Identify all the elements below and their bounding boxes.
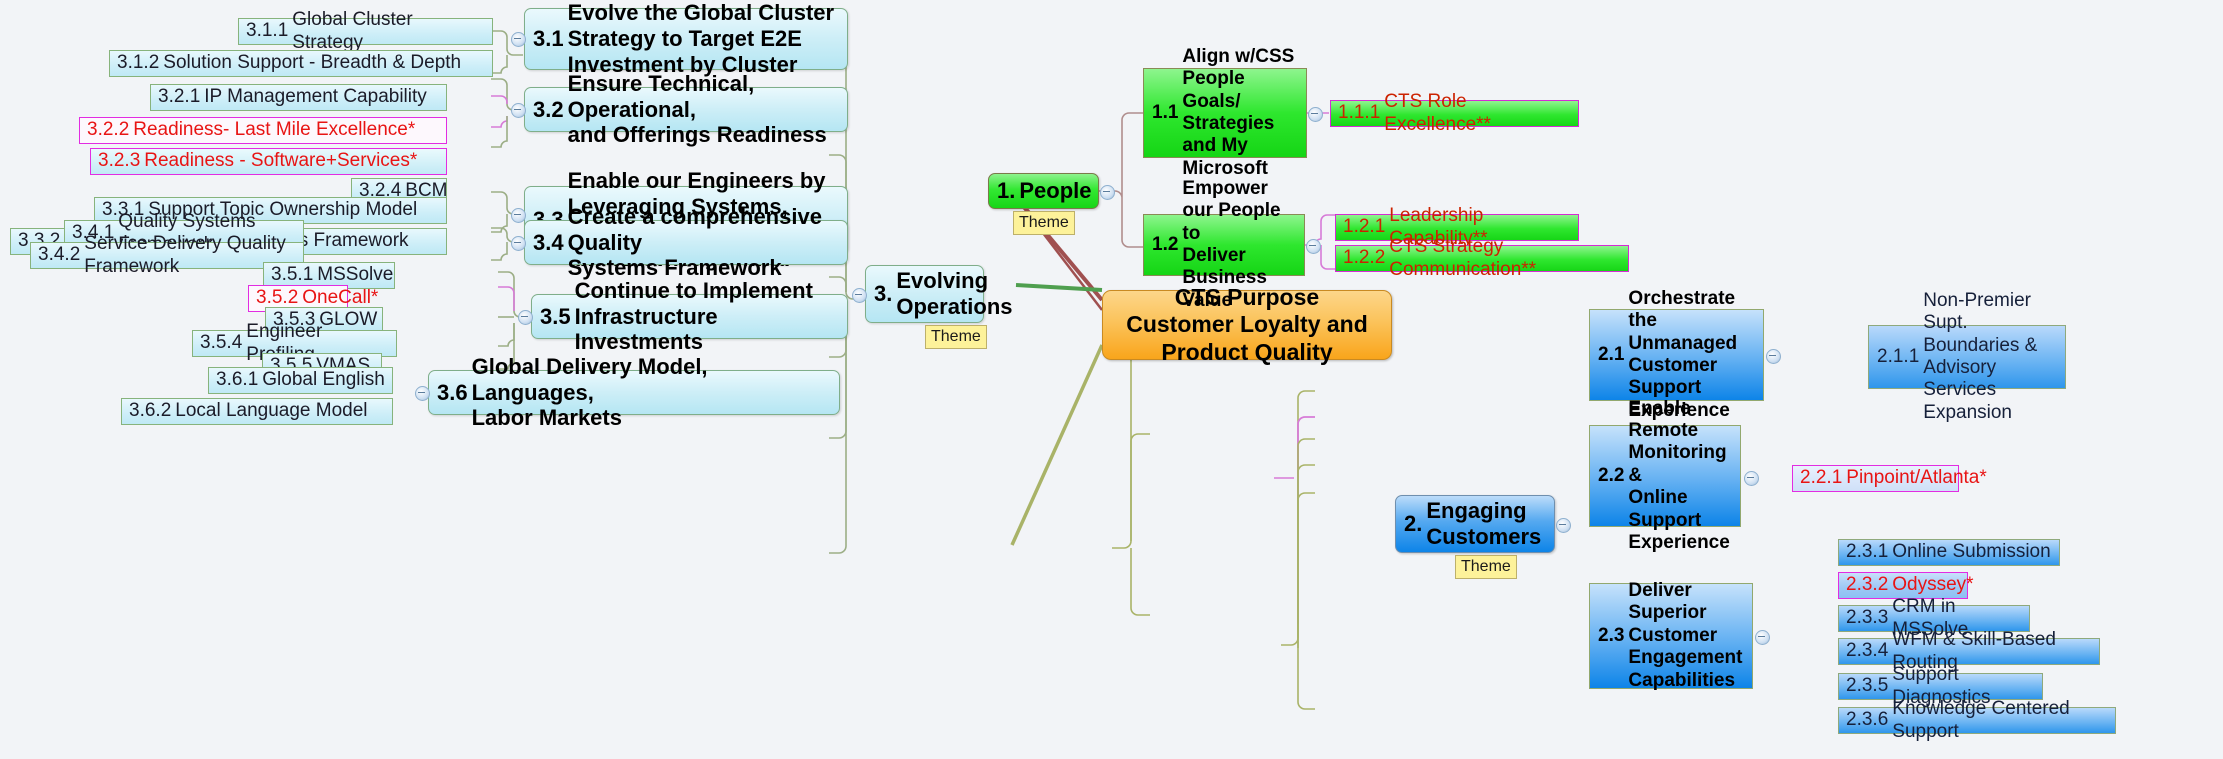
branch-people[interactable]: 1. People <box>988 173 1099 209</box>
node-3-1-label: Evolve the Global Cluster Strategy to Ta… <box>568 0 839 78</box>
node-3-1-number: 3.1 <box>533 26 568 52</box>
node-3-2-1-label: IP Management Capability <box>204 86 439 108</box>
node-3-2-2-number: 3.2.2 <box>87 119 133 141</box>
node-3-6-2-number: 3.6.2 <box>129 400 175 422</box>
collapse-toggle-2-2[interactable] <box>1744 471 1759 486</box>
collapse-toggle-engaging-customers[interactable] <box>1556 518 1571 533</box>
node-2-3-1[interactable]: 2.3.1 Online Submission <box>1838 539 2060 566</box>
node-3-6-1-number: 3.6.1 <box>216 369 262 391</box>
theme-tag-people: Theme <box>1013 211 1075 235</box>
theme-tag-engaging-customers: Theme <box>1455 555 1517 579</box>
node-2-2-1-number: 2.2.1 <box>1800 467 1846 489</box>
node-2-2[interactable]: 2.2 Enable Remote Monitoring & Online Su… <box>1589 425 1741 527</box>
node-3-6-label: Global Delivery Model, Languages, Labor … <box>472 354 831 432</box>
node-3-4-label: Create a comprehensive Quality Systems F… <box>568 204 839 282</box>
node-3-2-2-label: Readiness- Last Mile Excellence* <box>133 119 439 141</box>
branch-evolving-operations-number: 3. <box>874 281 896 307</box>
node-2-1-1[interactable]: 2.1.1 Non-Premier Supt. Boundaries & Adv… <box>1868 325 2066 389</box>
branch-engaging-customers-number: 2. <box>1404 511 1426 537</box>
node-3-6-1-label: Global English <box>262 369 385 391</box>
node-3-5-1-label: MSSolve <box>317 264 393 286</box>
node-1-2-2-label: CTS Strategy Communication** <box>1389 236 1621 281</box>
node-2-3-2-number: 2.3.2 <box>1846 574 1892 596</box>
node-1-2-1-number: 1.2.1 <box>1343 216 1389 238</box>
node-3-2-3[interactable]: 3.2.3 Readiness - Software+Services* <box>90 148 447 175</box>
node-3-2-3-number: 3.2.3 <box>98 150 144 172</box>
collapse-toggle-people[interactable] <box>1100 185 1115 200</box>
collapse-toggle-3-3[interactable] <box>511 208 526 223</box>
node-2-1-number: 2.1 <box>1598 344 1628 366</box>
node-2-3-4[interactable]: 2.3.4 WFM & Skill-Based Routing <box>1838 638 2100 665</box>
node-3-2[interactable]: 3.2 Ensure Technical, Operational, and O… <box>524 87 848 132</box>
branch-evolving-operations[interactable]: 3. Evolving Operations <box>865 265 984 323</box>
node-3-2-label: Ensure Technical, Operational, and Offer… <box>568 71 839 149</box>
node-2-3-2[interactable]: 2.3.2 Odyssey* <box>1838 572 1968 599</box>
branch-engaging-customers[interactable]: 2. Engaging Customers <box>1395 495 1555 553</box>
node-3-2-number: 3.2 <box>533 97 568 123</box>
node-3-6-1[interactable]: 3.6.1 Global English <box>208 367 393 394</box>
collapse-toggle-1-1[interactable] <box>1308 107 1323 122</box>
collapse-toggle-3-1[interactable] <box>511 32 526 47</box>
node-3-1-2-label: Solution Support - Breadth & Depth <box>163 52 485 74</box>
node-1-1[interactable]: 1.1 Align w/CSS People Goals/ Strategies… <box>1143 68 1307 158</box>
mindmap-canvas: CTS Purpose Customer Loyalty and Product… <box>0 0 2223 759</box>
node-3-2-1-number: 3.2.1 <box>158 86 204 108</box>
node-2-3-6[interactable]: 2.3.6 Knowledge Centered Support <box>1838 707 2116 734</box>
node-3-1-2-number: 3.1.2 <box>117 52 163 74</box>
node-2-3-5[interactable]: 2.3.5 Support Diagnostics <box>1838 673 2043 700</box>
node-3-4-number: 3.4 <box>533 230 568 256</box>
node-2-3-number: 2.3 <box>1598 625 1628 647</box>
node-3-1-2[interactable]: 3.1.2 Solution Support - Breadth & Depth <box>109 50 493 77</box>
branch-engaging-customers-label: Engaging Customers <box>1426 498 1546 550</box>
theme-tag-evolving-operations: Theme <box>925 325 987 349</box>
node-2-2-1-label: Pinpoint/Atlanta* <box>1846 467 1987 489</box>
collapse-toggle-2-1[interactable] <box>1766 349 1781 364</box>
node-3-5-number: 3.5 <box>540 304 575 330</box>
node-1-1-label: Align w/CSS People Goals/ Strategies and… <box>1182 46 1298 180</box>
node-3-5[interactable]: 3.5 Continue to Implement Infrastructure… <box>531 294 848 339</box>
node-3-2-3-label: Readiness - Software+Services* <box>144 150 439 172</box>
node-1-1-number: 1.1 <box>1152 102 1182 124</box>
collapse-toggle-3-6[interactable] <box>415 386 430 401</box>
node-2-3[interactable]: 2.3 Deliver Superior Customer Engagement… <box>1589 583 1753 689</box>
node-2-3-2-label: Odyssey* <box>1892 574 1973 596</box>
node-2-1-1-number: 2.1.1 <box>1877 346 1923 368</box>
node-3-6-number: 3.6 <box>437 380 472 406</box>
node-2-2-label: Enable Remote Monitoring & Online Suppor… <box>1628 398 1732 555</box>
branch-evolving-operations-label: Evolving Operations <box>896 268 1012 320</box>
collapse-toggle-3-5[interactable] <box>518 310 533 325</box>
node-2-3-1-number: 2.3.1 <box>1846 541 1892 563</box>
collapse-toggle-3-2[interactable] <box>511 103 526 118</box>
node-2-3-6-number: 2.3.6 <box>1846 709 1892 731</box>
collapse-toggle-evolving-operations[interactable] <box>852 288 867 303</box>
node-3-1[interactable]: 3.1 Evolve the Global Cluster Strategy t… <box>524 8 848 70</box>
node-3-1-1[interactable]: 3.1.1 Global Cluster Strategy <box>238 18 493 45</box>
node-2-2-1[interactable]: 2.2.1 Pinpoint/Atlanta* <box>1792 465 1959 492</box>
node-3-4[interactable]: 3.4 Create a comprehensive Quality Syste… <box>524 220 848 265</box>
node-3-6[interactable]: 3.6 Global Delivery Model, Languages, La… <box>428 370 840 415</box>
node-3-6-2-label: Local Language Model <box>175 400 385 422</box>
node-3-2-1[interactable]: 3.2.1 IP Management Capability <box>150 84 447 111</box>
node-2-2-number: 2.2 <box>1598 465 1628 487</box>
node-2-3-6-label: Knowledge Centered Support <box>1892 698 2108 743</box>
node-2-3-label: Deliver Superior Customer Engagement Cap… <box>1628 580 1744 692</box>
branch-people-label: People <box>1019 178 1091 204</box>
node-3-5-1-number: 3.5.1 <box>271 264 317 286</box>
node-2-3-5-number: 2.3.5 <box>1846 675 1892 697</box>
node-1-2-number: 1.2 <box>1152 234 1182 256</box>
node-2-3-3-number: 2.3.3 <box>1846 607 1892 629</box>
node-2-1[interactable]: 2.1 Orchestrate the Unmanaged Customer S… <box>1589 309 1764 401</box>
node-3-5-label: Continue to Implement Infrastructure Inv… <box>575 278 839 356</box>
node-1-1-1[interactable]: 1.1.1 CTS Role Excellence** <box>1330 100 1579 127</box>
node-1-2-label: Empower our People to Deliver Business V… <box>1182 178 1296 312</box>
node-2-1-1-label: Non-Premier Supt. Boundaries & Advisory … <box>1923 290 2057 424</box>
node-3-5-4-number: 3.5.4 <box>200 332 246 354</box>
node-3-1-1-label: Global Cluster Strategy <box>292 9 485 54</box>
node-3-1-1-number: 3.1.1 <box>246 20 292 42</box>
node-2-3-4-number: 2.3.4 <box>1846 640 1892 662</box>
node-1-2[interactable]: 1.2 Empower our People to Deliver Busine… <box>1143 214 1305 276</box>
node-3-4-2-number: 3.4.2 <box>38 244 84 266</box>
node-3-6-2[interactable]: 3.6.2 Local Language Model <box>121 398 393 425</box>
node-1-1-1-number: 1.1.1 <box>1338 102 1384 124</box>
node-3-2-2[interactable]: 3.2.2 Readiness- Last Mile Excellence* <box>79 117 447 144</box>
collapse-toggle-2-3[interactable] <box>1755 630 1770 645</box>
node-1-2-2[interactable]: 1.2.2 CTS Strategy Communication** <box>1335 245 1629 272</box>
collapse-toggle-1-2[interactable] <box>1306 239 1321 254</box>
collapse-toggle-3-4[interactable] <box>511 236 526 251</box>
node-1-1-1-label: CTS Role Excellence** <box>1384 91 1571 136</box>
node-2-3-1-label: Online Submission <box>1892 541 2052 563</box>
node-1-2-2-number: 1.2.2 <box>1343 247 1389 269</box>
branch-people-number: 1. <box>997 178 1019 204</box>
node-2-3-3[interactable]: 2.3.3 CRM in MSSolve <box>1838 605 2030 632</box>
